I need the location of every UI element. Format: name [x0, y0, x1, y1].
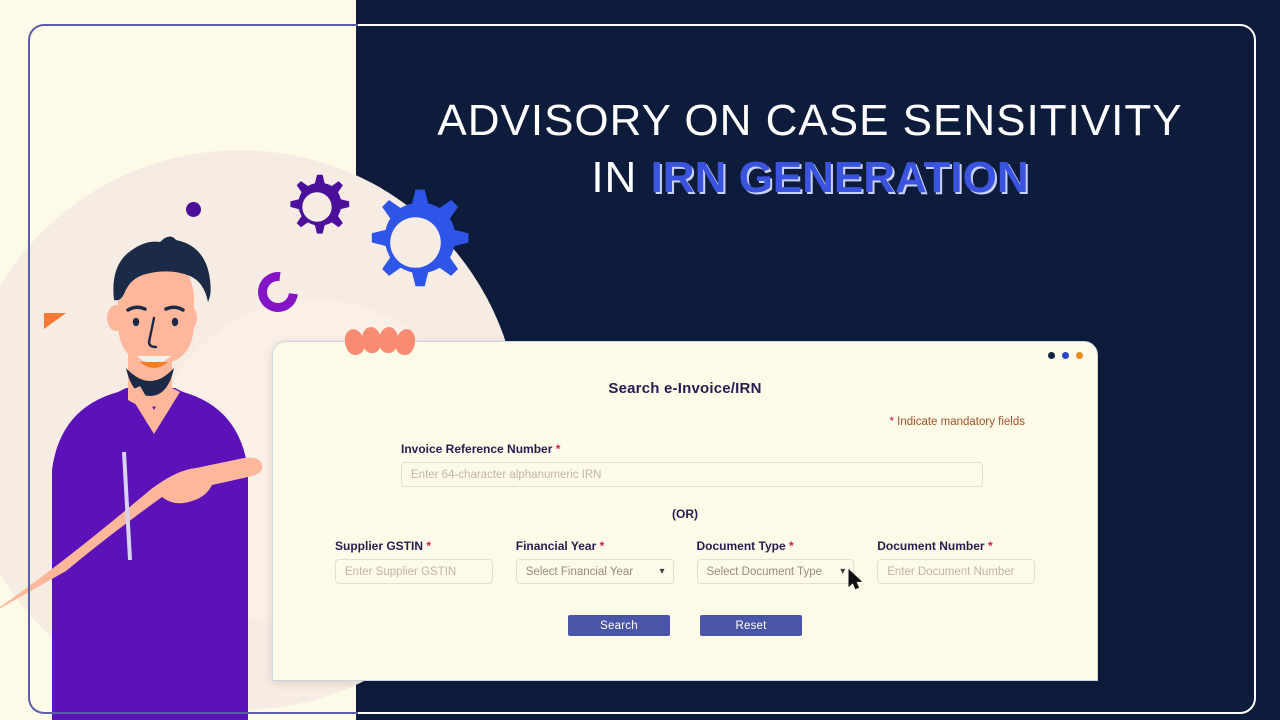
irn-input[interactable]: [401, 462, 983, 487]
document-number-group: Document Number *: [877, 539, 1035, 584]
document-type-label: Document Type *: [697, 539, 855, 553]
document-number-label: Document Number *: [877, 539, 1035, 553]
form-title: Search e-Invoice/IRN: [329, 380, 1041, 397]
window-dot-dark[interactable]: [1048, 352, 1055, 359]
window-controls[interactable]: [1048, 352, 1083, 359]
chevron-down-icon: ▾: [840, 565, 845, 576]
financial-year-required-star: *: [600, 539, 605, 553]
supplier-gstin-input[interactable]: [335, 559, 493, 584]
supplier-gstin-label-text: Supplier GSTIN: [335, 539, 426, 553]
chevron-down-icon: ▾: [659, 565, 664, 576]
mouse-cursor-icon: [848, 569, 864, 591]
banner-image: ADVISORY ON CASE SENSITIVITY IN IRN GENE…: [0, 0, 1280, 720]
decorative-triangle: [44, 313, 66, 329]
or-divider: (OR): [329, 507, 1041, 521]
form-actions: Search Reset: [329, 615, 1041, 636]
headline-line-2-prefix: IN: [591, 153, 650, 202]
irn-label: Invoice Reference Number *: [401, 442, 983, 456]
document-number-required-star: *: [988, 539, 993, 553]
headline: ADVISORY ON CASE SENSITIVITY IN IRN GENE…: [370, 96, 1250, 203]
document-number-input[interactable]: [877, 559, 1035, 584]
window-dot-blue[interactable]: [1062, 352, 1069, 359]
browser-window-card: Search e-Invoice/IRN * Indicate mandator…: [272, 341, 1098, 681]
decorative-dot: [186, 202, 201, 217]
document-type-selected-value: Select Document Type: [707, 566, 823, 578]
financial-year-group: Financial Year * Select Financial Year ▾: [516, 539, 674, 584]
financial-year-selected-value: Select Financial Year: [526, 566, 633, 578]
document-type-label-text: Document Type: [697, 539, 789, 553]
reset-button[interactable]: Reset: [700, 615, 802, 636]
supplier-gstin-required-star: *: [426, 539, 431, 553]
financial-year-label: Financial Year *: [516, 539, 674, 553]
form-container: Search e-Invoice/IRN * Indicate mandator…: [273, 342, 1097, 636]
document-type-required-star: *: [789, 539, 794, 553]
window-dot-orange[interactable]: [1076, 352, 1083, 359]
mandatory-fields-note: * Indicate mandatory fields: [329, 416, 1041, 428]
document-number-label-text: Document Number: [877, 539, 988, 553]
search-button[interactable]: Search: [568, 615, 670, 636]
financial-year-label-text: Financial Year: [516, 539, 600, 553]
supplier-gstin-group: Supplier GSTIN *: [335, 539, 493, 584]
document-type-select[interactable]: Select Document Type ▾: [697, 559, 855, 584]
headline-line-2: IN IRN GENERATION: [370, 153, 1250, 204]
supplier-gstin-label: Supplier GSTIN *: [335, 539, 493, 553]
irn-label-text: Invoice Reference Number: [401, 442, 556, 456]
irn-required-star: *: [556, 442, 561, 456]
mandatory-note-text: Indicate mandatory fields: [894, 416, 1025, 428]
financial-year-select[interactable]: Select Financial Year ▾: [516, 559, 674, 584]
headline-line-1: ADVISORY ON CASE SENSITIVITY: [370, 96, 1250, 147]
search-criteria-row: Supplier GSTIN * Financial Year * Select…: [329, 539, 1041, 584]
document-type-group: Document Type * Select Document Type ▾: [697, 539, 855, 584]
irn-field-group: Invoice Reference Number *: [329, 442, 1041, 487]
headline-highlight: IRN GENERATION: [651, 153, 1029, 202]
